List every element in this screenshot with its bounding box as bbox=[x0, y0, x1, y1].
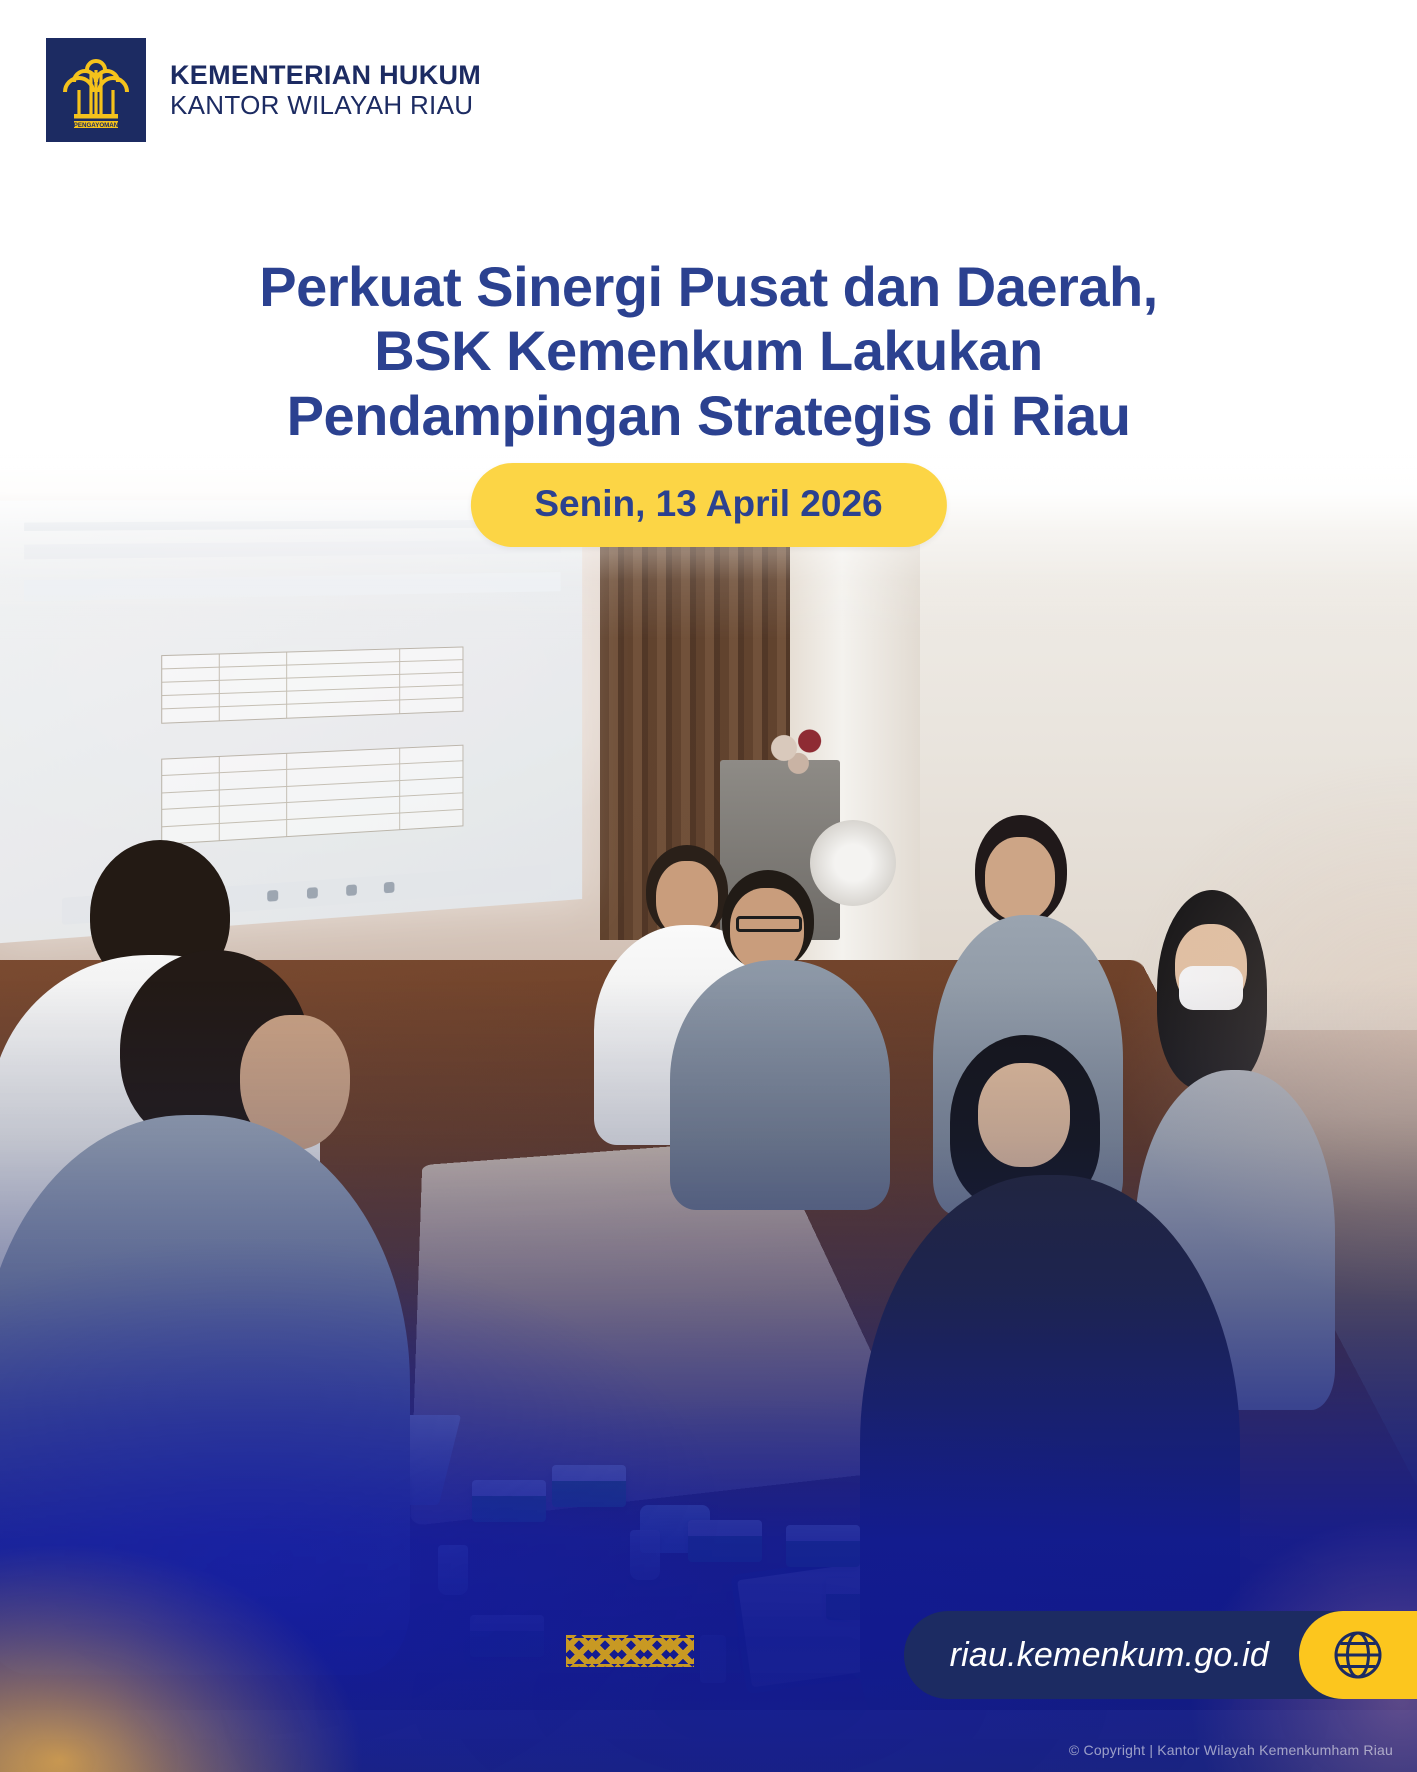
date-badge: Senin, 13 April 2026 bbox=[470, 463, 946, 547]
pengayoman-logo: PENGAYOMAN bbox=[46, 38, 146, 142]
title-line-2: BSK Kemenkum Lakukan bbox=[0, 319, 1417, 383]
logo-caption: PENGAYOMAN bbox=[74, 122, 119, 129]
title-line-1: Perkuat Sinergi Pusat dan Daerah, bbox=[0, 255, 1417, 319]
globe-icon bbox=[1299, 1611, 1417, 1699]
songket-ornament-icon bbox=[566, 1635, 694, 1667]
page-header: PENGAYOMAN KEMENTERIAN HUKUM KANTOR WILA… bbox=[0, 0, 1417, 180]
drinking-glass bbox=[438, 1545, 468, 1595]
banyan-tree-icon: PENGAYOMAN bbox=[57, 48, 135, 132]
snack-box bbox=[688, 1520, 762, 1562]
snack-box bbox=[786, 1525, 860, 1567]
website-url-pill[interactable]: riau.kemenkum.go.id bbox=[904, 1611, 1417, 1699]
page-footer: riau.kemenkum.go.id © Copyright | Kantor… bbox=[0, 1592, 1417, 1772]
flower-vase bbox=[760, 720, 840, 790]
snack-box bbox=[552, 1465, 626, 1507]
office-name: KANTOR WILAYAH RIAU bbox=[170, 91, 481, 119]
copyright-text: © Copyright | Kantor Wilayah Kemenkumham… bbox=[1069, 1742, 1393, 1758]
brand-text: KEMENTERIAN HUKUM KANTOR WILAYAH RIAU bbox=[170, 61, 481, 118]
page-title: Perkuat Sinergi Pusat dan Daerah, BSK Ke… bbox=[0, 255, 1417, 448]
snack-box bbox=[472, 1480, 546, 1522]
poster-root: PENGAYOMAN KEMENTERIAN HUKUM KANTOR WILA… bbox=[0, 0, 1417, 1772]
hero-title-block: Perkuat Sinergi Pusat dan Daerah, BSK Ke… bbox=[0, 255, 1417, 448]
title-line-3: Pendampingan Strategis di Riau bbox=[0, 384, 1417, 448]
website-url: riau.kemenkum.go.id bbox=[950, 1636, 1299, 1675]
projector-screen bbox=[0, 499, 582, 943]
standing-fan bbox=[810, 820, 896, 906]
drinking-glass bbox=[630, 1530, 660, 1580]
ministry-name: KEMENTERIAN HUKUM bbox=[170, 61, 481, 90]
